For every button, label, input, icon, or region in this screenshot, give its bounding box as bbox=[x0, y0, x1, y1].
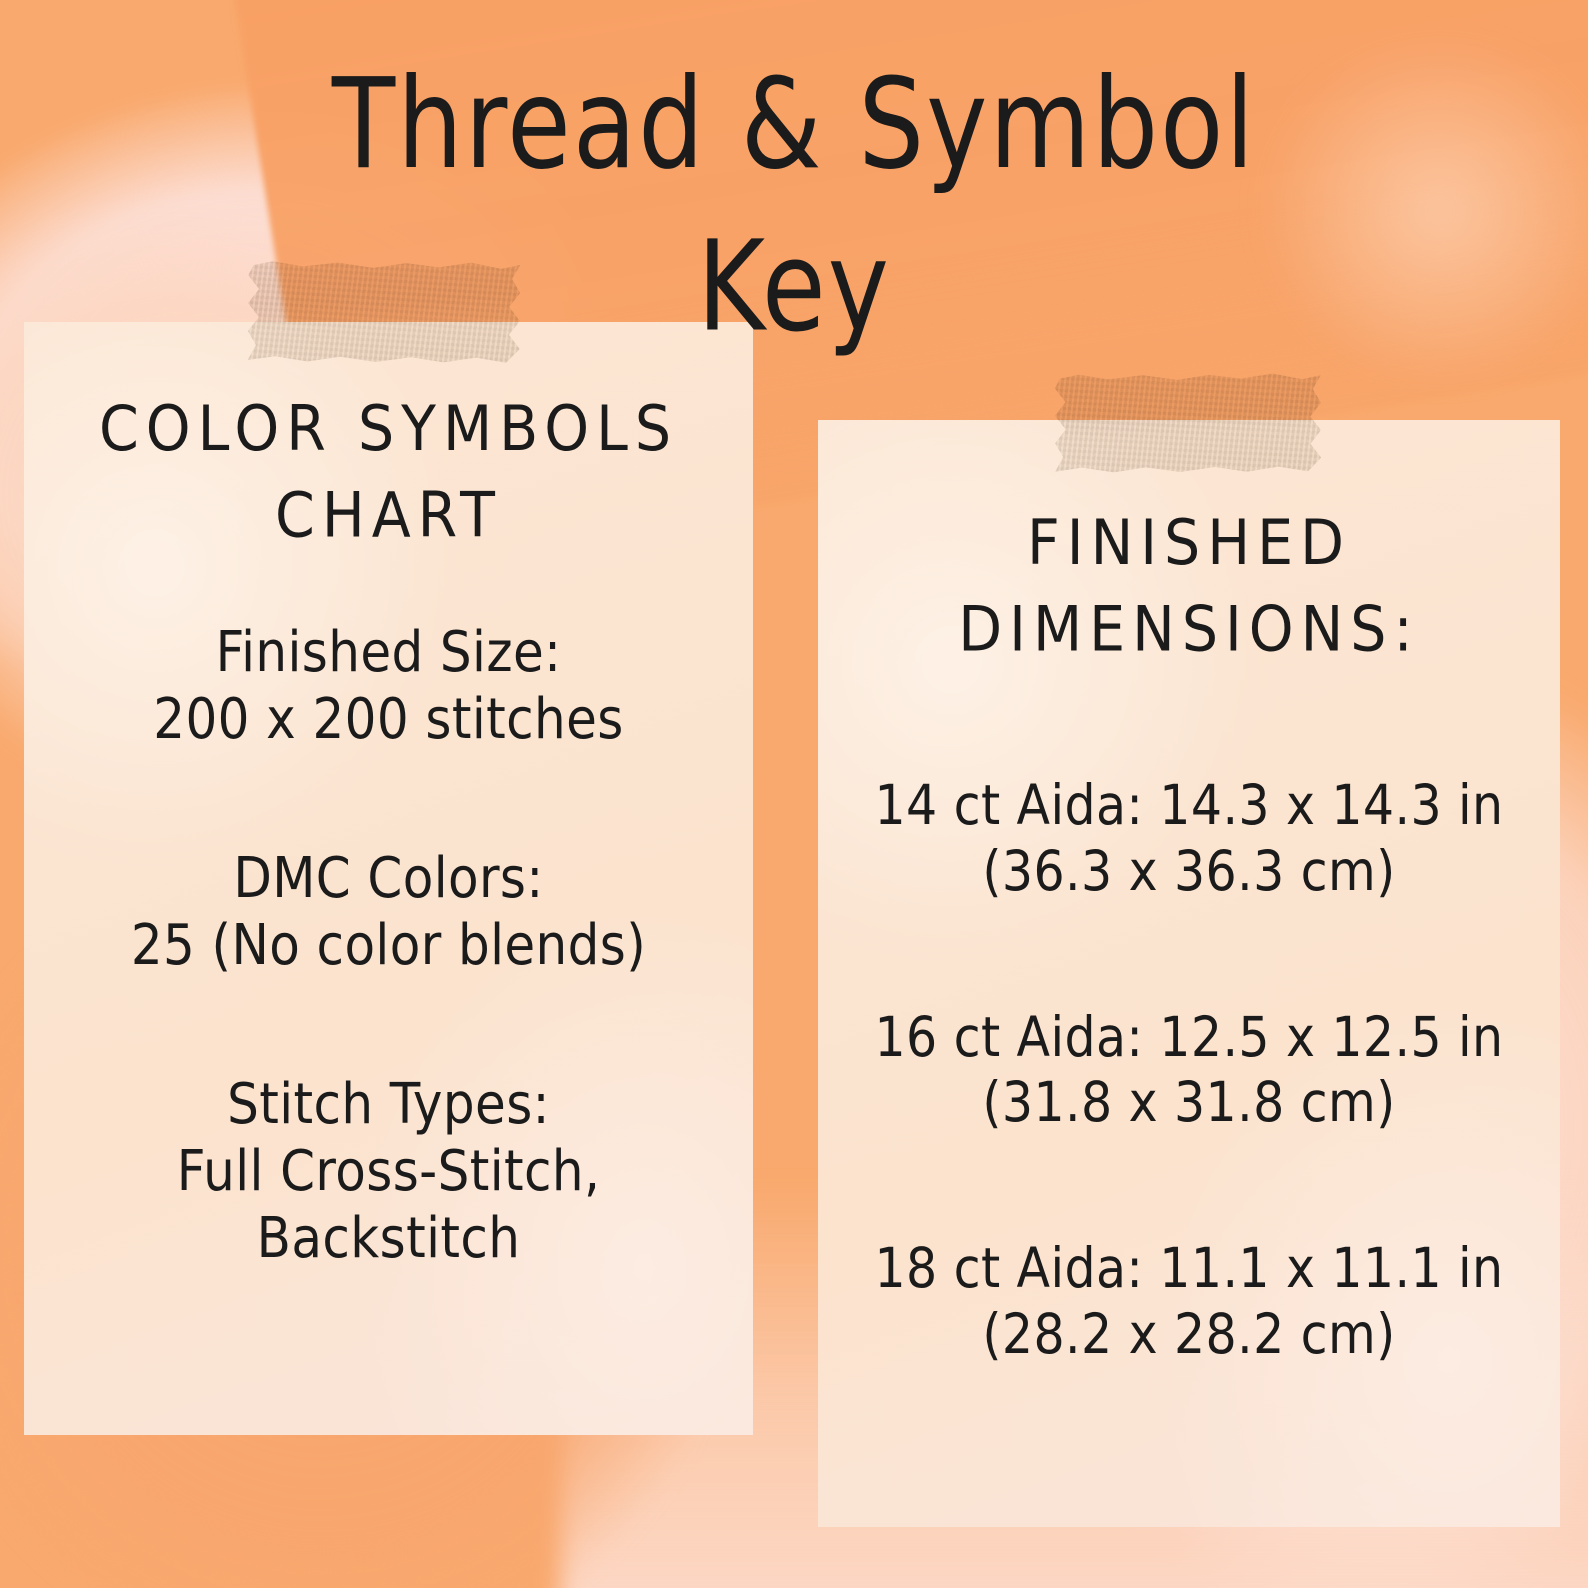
stitch-types-value-line-1: Full Cross-Stitch, bbox=[24, 1134, 753, 1209]
aida-18-row: 18 ct Aida: 11.1 x 11.1 in (28.2 x 28.2 … bbox=[818, 1232, 1560, 1363]
finished-size-label: Finished Size: bbox=[24, 615, 753, 690]
poster-canvas: Thread & Symbol Key COLOR SYMBOLS CHART … bbox=[0, 0, 1588, 1588]
aida-16-centimeters: (31.8 x 31.8 cm) bbox=[818, 1066, 1560, 1140]
dmc-colors-label: DMC Colors: bbox=[24, 841, 753, 916]
stitch-types-block: Stitch Types: Full Cross-Stitch, Backsti… bbox=[24, 1067, 753, 1268]
page-title-line-1: Thread & Symbol bbox=[32, 44, 1556, 207]
right-card-heading-line-2: DIMENSIONS: bbox=[818, 587, 1560, 674]
aida-18-centimeters: (28.2 x 28.2 cm) bbox=[818, 1298, 1560, 1372]
finished-size-value: 200 x 200 stitches bbox=[24, 682, 753, 757]
finished-size-block: Finished Size: 200 x 200 stitches bbox=[24, 615, 753, 749]
aida-14-inches: 14 ct Aida: 14.3 x 14.3 in bbox=[818, 769, 1560, 843]
left-card-heading-line-1: COLOR SYMBOLS bbox=[24, 386, 753, 473]
right-card-heading-line-1: FINISHED bbox=[818, 500, 1560, 587]
aida-16-inches: 16 ct Aida: 12.5 x 12.5 in bbox=[818, 1001, 1560, 1075]
page-title: Thread & Symbol Key bbox=[32, 44, 1556, 370]
aida-14-centimeters: (36.3 x 36.3 cm) bbox=[818, 835, 1560, 909]
aida-18-inches: 18 ct Aida: 11.1 x 11.1 in bbox=[818, 1232, 1560, 1306]
finished-dimensions-card: FINISHED DIMENSIONS: 14 ct Aida: 14.3 x … bbox=[818, 420, 1560, 1527]
aida-16-row: 16 ct Aida: 12.5 x 12.5 in (31.8 x 31.8 … bbox=[818, 1001, 1560, 1132]
right-card-heading: FINISHED DIMENSIONS: bbox=[818, 500, 1560, 673]
aida-14-row: 14 ct Aida: 14.3 x 14.3 in (36.3 x 36.3 … bbox=[818, 769, 1560, 900]
color-symbols-chart-card: COLOR SYMBOLS CHART Finished Size: 200 x… bbox=[24, 322, 753, 1435]
stitch-types-value-line-2: Backstitch bbox=[24, 1201, 753, 1276]
dmc-colors-value: 25 (No color blends) bbox=[24, 908, 753, 983]
page-title-line-2: Key bbox=[32, 207, 1556, 370]
right-card-content: FINISHED DIMENSIONS: 14 ct Aida: 14.3 x … bbox=[818, 420, 1560, 1363]
left-card-heading: COLOR SYMBOLS CHART bbox=[24, 386, 753, 559]
left-card-content: COLOR SYMBOLS CHART Finished Size: 200 x… bbox=[24, 322, 753, 1268]
stitch-types-label: Stitch Types: bbox=[24, 1067, 753, 1142]
dmc-colors-block: DMC Colors: 25 (No color blends) bbox=[24, 841, 753, 975]
washi-tape-right-icon bbox=[1055, 373, 1322, 472]
left-card-heading-line-2: CHART bbox=[24, 473, 753, 560]
